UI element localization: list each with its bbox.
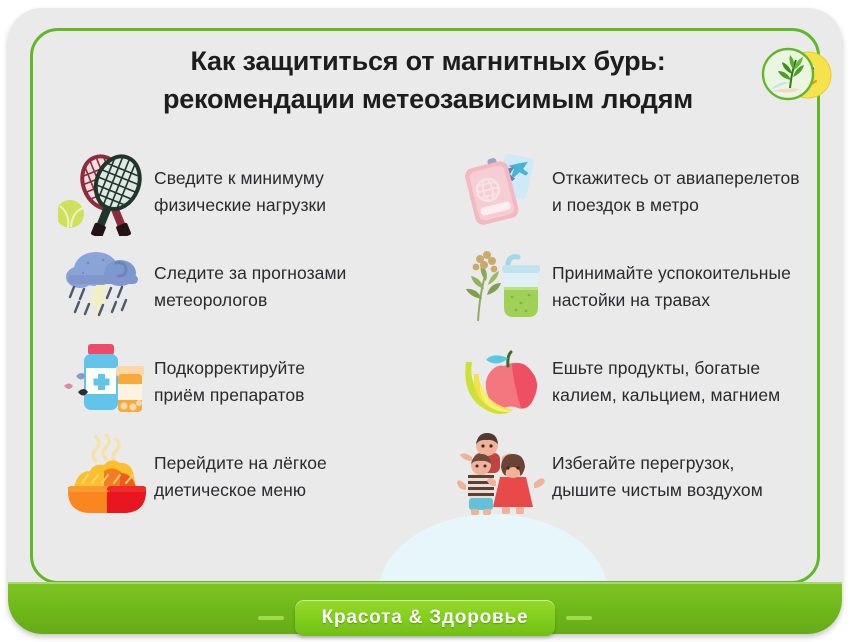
medicine-bottles-icon <box>58 338 154 426</box>
rain-cloud-icon <box>58 243 154 331</box>
tips-column-right: Откажитесь от авиаперелетов и поездок в … <box>456 144 836 524</box>
tip-line-1: Избегайте перегрузок, <box>552 453 734 473</box>
tip-line-1: Подкорректируйте <box>154 358 305 378</box>
tip-text: Откажитесь от авиаперелетов и поездок в … <box>552 165 800 219</box>
ribbon-dash-left <box>258 616 284 620</box>
infographic-poster: Как защититься от магнитных бурь: рекоме… <box>0 0 850 642</box>
tip-line-1: Перейдите на лёгкое <box>154 453 327 473</box>
tip-item: Избегайте перегрузок, дышите чистым возд… <box>456 429 836 524</box>
tip-text: Подкорректируйте приём препаратов <box>154 355 305 409</box>
tip-text: Сведите к минимуму физические нагрузки <box>154 165 326 219</box>
tip-line-2: калием, кальцием, магнием <box>552 382 780 409</box>
herbal-drink-icon <box>456 243 552 331</box>
tip-text: Следите за прогнозами метеорологов <box>154 260 346 314</box>
tip-line-2: приём препаратов <box>154 382 305 409</box>
tip-item: Ешьте продукты, богатые калием, кальцием… <box>456 334 836 429</box>
tip-item: Следите за прогнозами метеорологов <box>58 239 438 334</box>
tip-line-2: диетическое меню <box>154 477 327 504</box>
children-icon <box>456 433 552 521</box>
fruits-icon <box>456 338 552 426</box>
page-title-line-1: Как защититься от магнитных бурь: <box>78 42 778 80</box>
ribbon-dash-right <box>566 616 592 620</box>
tips-grid: Сведите к минимуму физические нагрузки <box>48 144 823 524</box>
tip-line-2: настойки на травах <box>552 287 791 314</box>
tips-column-left: Сведите к минимуму физические нагрузки <box>58 144 438 524</box>
soup-bowl-icon <box>58 433 154 521</box>
tip-text: Ешьте продукты, богатые калием, кальцием… <box>552 355 780 409</box>
tip-item: Перейдите на лёгкое диетическое меню <box>58 429 438 524</box>
tip-line-1: Откажитесь от авиаперелетов <box>552 168 800 188</box>
tip-item: Откажитесь от авиаперелетов и поездок в … <box>456 144 836 239</box>
poster-card: Как защититься от магнитных бурь: рекоме… <box>8 8 842 634</box>
tip-line-2: метеорологов <box>154 287 346 314</box>
tip-line-1: Следите за прогнозами <box>154 263 346 283</box>
herb-and-smiley-logo <box>760 44 834 106</box>
tip-text: Перейдите на лёгкое диетическое меню <box>154 450 327 504</box>
tip-line-1: Принимайте успокоительные <box>552 263 791 283</box>
tip-text: Избегайте перегрузок, дышите чистым возд… <box>552 450 763 504</box>
tennis-rackets-icon <box>58 148 154 236</box>
tip-item: Принимайте успокоительные настойки на тр… <box>456 239 836 334</box>
tip-item: Сведите к минимуму физические нагрузки <box>58 144 438 239</box>
brand-ribbon-label: Красота & Здоровье <box>322 607 529 629</box>
tip-line-1: Сведите к минимуму <box>154 168 324 188</box>
passport-tickets-icon <box>456 148 552 236</box>
page-title-line-2: рекомендации метеозависимым людям <box>78 80 778 118</box>
tip-line-2: и поездок в метро <box>552 192 800 219</box>
tip-text: Принимайте успокоительные настойки на тр… <box>552 260 791 314</box>
tip-line-2: физические нагрузки <box>154 192 326 219</box>
tip-line-2: дышите чистым воздухом <box>552 477 763 504</box>
poster-header: Как защититься от магнитных бурь: рекоме… <box>78 42 778 118</box>
tip-item: Подкорректируйте приём препаратов <box>58 334 438 429</box>
brand-ribbon[interactable]: Красота & Здоровье <box>295 600 555 636</box>
tip-line-1: Ешьте продукты, богатые <box>552 358 760 378</box>
